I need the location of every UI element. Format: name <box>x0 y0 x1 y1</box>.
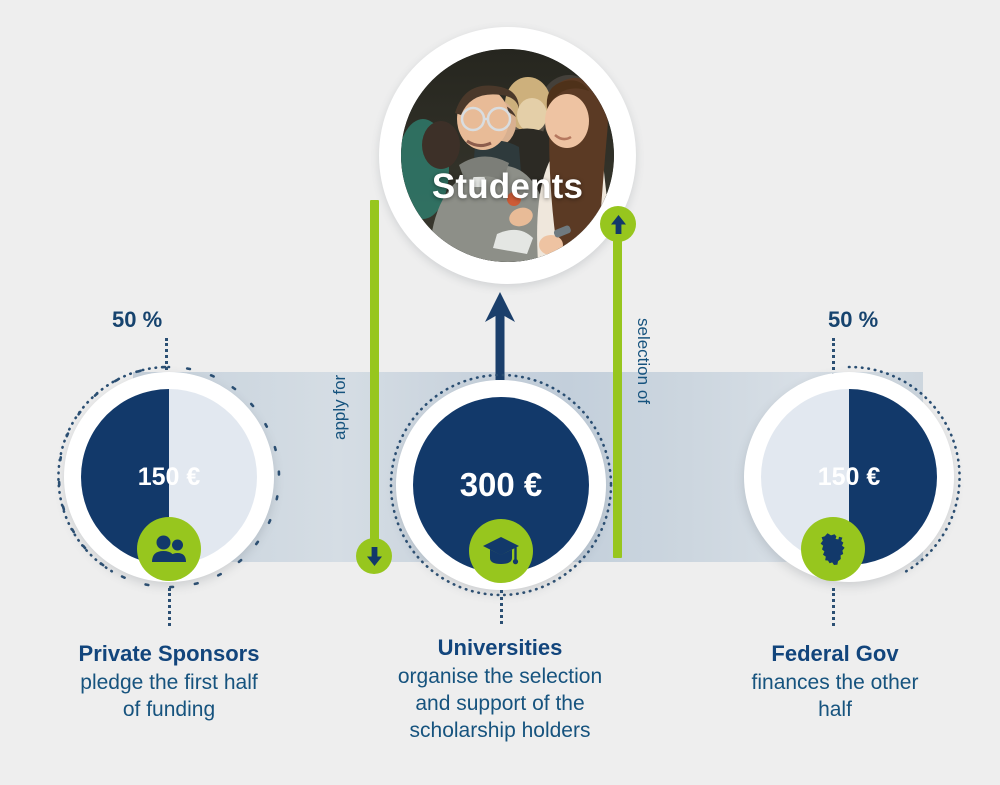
caption-line-1-universities: organise the selection <box>355 663 645 690</box>
caption-universities: Universities organise the selection and … <box>355 634 645 744</box>
students-label: Students <box>379 167 636 207</box>
caption-line-2-private-sponsors: of funding <box>19 696 319 723</box>
caption-line-2-federal-gov: half <box>690 696 980 723</box>
caption-title-federal-gov: Federal Gov <box>690 640 980 669</box>
infographic-canvas: Students apply for selection of 50 % 150… <box>0 0 1000 785</box>
badge-germany-map-icon <box>801 517 865 581</box>
percent-label-federal-gov: 50 % <box>828 307 878 333</box>
leader-line-caption-left <box>168 588 171 626</box>
people-icon <box>152 535 186 563</box>
leader-line-caption-right <box>832 588 835 626</box>
caption-line-3-universities: scholarship holders <box>355 717 645 744</box>
caption-line-1-federal-gov: finances the other <box>690 669 980 696</box>
flow-label-selection-of: selection of <box>633 318 653 404</box>
caption-line-1-private-sponsors: pledge the first half <box>19 669 319 696</box>
students-photo <box>401 49 614 262</box>
leader-line-caption-center <box>500 590 503 624</box>
flow-arrow-selection-of <box>600 206 636 242</box>
graduation-cap-icon <box>482 536 520 566</box>
students-node: Students <box>379 27 636 284</box>
caption-federal-gov: Federal Gov finances the other half <box>690 640 980 723</box>
caption-title-universities: Universities <box>355 634 645 663</box>
caption-line-2-universities: and support of the <box>355 690 645 717</box>
badge-graduation-cap-icon <box>469 519 533 583</box>
germany-map-icon <box>818 532 848 566</box>
flow-line-apply-for <box>370 200 379 555</box>
caption-title-private-sponsors: Private Sponsors <box>19 640 319 669</box>
badge-people-icon <box>137 517 201 581</box>
percent-label-private-sponsors: 50 % <box>112 307 162 333</box>
caption-private-sponsors: Private Sponsors pledge the first half o… <box>19 640 319 723</box>
flow-label-apply-for: apply for <box>330 375 350 440</box>
